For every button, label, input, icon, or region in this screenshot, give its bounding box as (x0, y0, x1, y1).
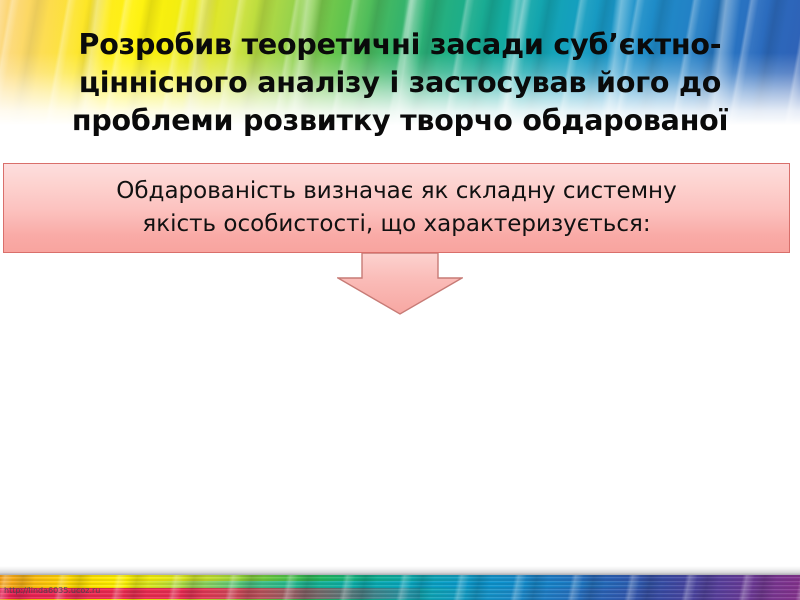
callout-line-2: якість особистості, що характеризується: (142, 208, 650, 241)
down-arrow-shape (337, 252, 463, 316)
down-arrow-icon (337, 252, 463, 316)
footer-url-watermark[interactable]: http://linda6035.ucoz.ru (4, 586, 100, 595)
title-line-3: проблеми розвитку творчо обдарованої (0, 102, 800, 140)
footer-diagonal-streaks (0, 575, 800, 600)
bottom-rainbow-footer: http://linda6035.ucoz.ru (0, 566, 800, 600)
slide-content-area (0, 316, 800, 566)
callout-text-box: Обдарованість визначає як складну систем… (3, 163, 790, 253)
slide-title: Розробив теоретичні засади суб’єктно- ці… (0, 26, 800, 140)
callout-line-1: Обдарованість визначає як складну систем… (116, 175, 676, 208)
title-line-2: ціннісного аналізу і застосував його до (0, 64, 800, 102)
title-line-1: Розробив теоретичні засади суб’єктно- (0, 26, 800, 64)
footer-stripe-group (0, 575, 800, 600)
